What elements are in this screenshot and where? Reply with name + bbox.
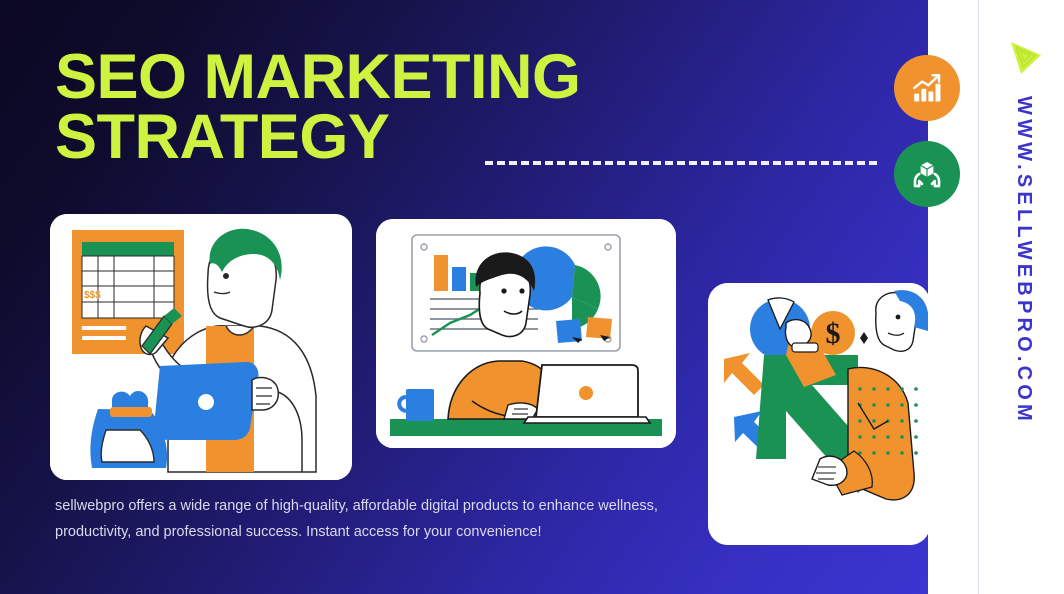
growth-chart-badge[interactable] xyxy=(894,55,960,121)
body-paragraph: sellwebpro offers a wide range of high-q… xyxy=(55,494,680,546)
card-analytics-review: $$$ xyxy=(50,214,352,480)
card-desk-dashboard xyxy=(376,219,676,448)
card-dashboard-illustration xyxy=(376,219,676,448)
triangle-play-logo-icon xyxy=(1005,38,1045,78)
title-dashed-divider xyxy=(485,161,877,165)
card-analytics-illustration: $$$ xyxy=(50,214,352,480)
svg-text:$: $ xyxy=(826,317,841,350)
growth-bar-chart-icon xyxy=(910,71,944,105)
brand-url[interactable]: WWW.SELLWEBPRO.COM xyxy=(1002,96,1046,376)
page-title: SEO MARKETING STRATEGY xyxy=(55,48,735,168)
card-growth-illustration: $ xyxy=(708,283,930,545)
package-delivery-badge[interactable] xyxy=(894,141,960,207)
svg-text:$$$: $$$ xyxy=(84,290,101,301)
poster-canvas: SEO MARKETING STRATEGY WWW.SELLWEBPRO.CO… xyxy=(0,0,1064,594)
card-growth-arrows: $ xyxy=(708,283,930,545)
vertical-divider xyxy=(978,0,979,594)
hands-holding-box-icon xyxy=(910,157,944,191)
